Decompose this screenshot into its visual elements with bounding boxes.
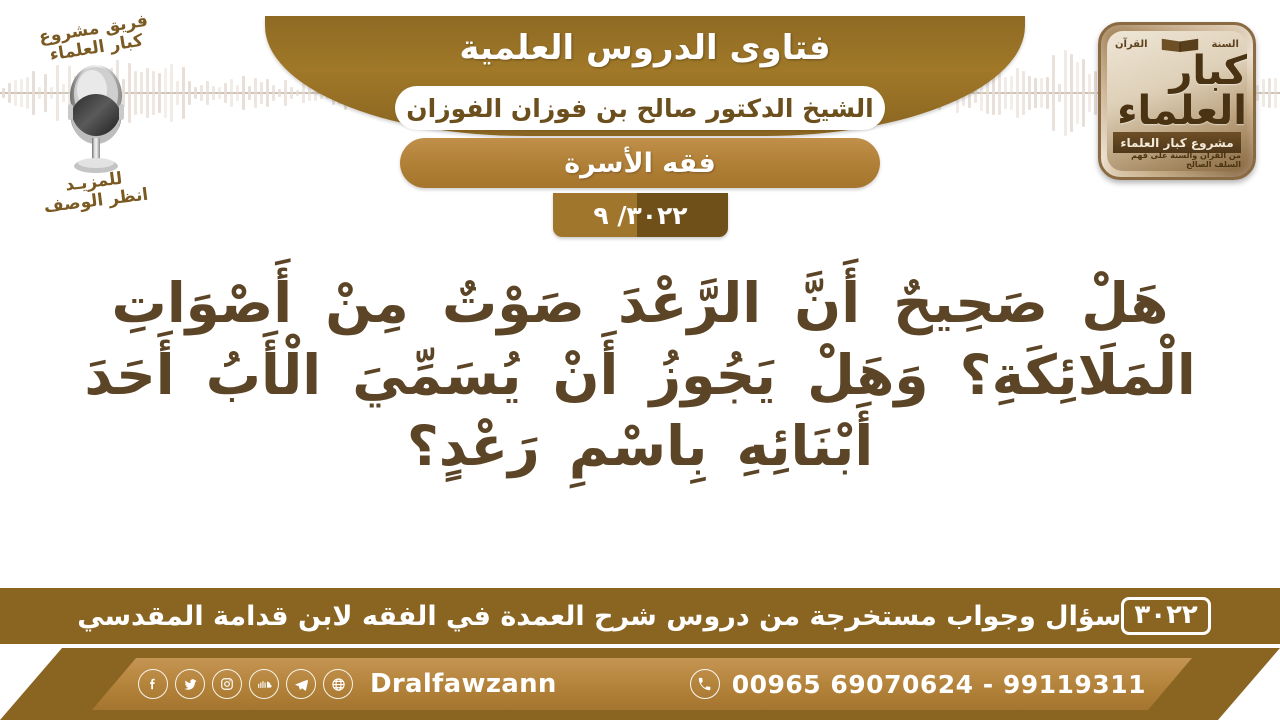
waveform-bar <box>1004 77 1007 110</box>
waveform-bar <box>1034 78 1037 109</box>
slide-canvas: فتاوى الدروس العلمية الشيخ الدكتور صالح … <box>0 0 1280 720</box>
waveform-bar <box>206 81 209 104</box>
waveform-bar <box>1256 85 1259 101</box>
question-line-3: أَبْنَائِهِ بِاسْمِ رَعْدٍ؟ <box>407 411 873 483</box>
microphone-icon <box>52 60 140 178</box>
waveform-bar <box>200 85 203 101</box>
waveform-bar <box>1268 78 1271 108</box>
topic-pill: فقه الأسرة <box>400 138 880 188</box>
waveform-bar <box>1022 71 1025 115</box>
telegram-icon[interactable] <box>286 669 316 699</box>
team-microphone-logo: فريق مشروع كبار العلماء <box>10 18 180 233</box>
waveform-bar <box>278 89 281 97</box>
contact-phone-group[interactable]: 00965 69070624 - 99119311 <box>690 669 1146 699</box>
page-title: فتاوى الدروس العلمية <box>265 20 1025 76</box>
waveform-bar <box>242 76 245 110</box>
twitter-icon[interactable] <box>175 669 205 699</box>
index-badge: ٣٠٢٢/ ٩ <box>553 193 728 237</box>
waveform-bar <box>224 83 227 103</box>
project-logo-quran-label: القرآن <box>1115 39 1148 50</box>
waveform-bar <box>1274 78 1277 108</box>
waveform-bar <box>272 85 275 101</box>
source-bar: ٣٠٢٢ سؤال وجواب مستخرجة من دروس شرح العم… <box>0 588 1280 644</box>
waveform-bar <box>1088 74 1091 112</box>
scholar-name-pill: الشيخ الدكتور صالح بن فوزان الفوزان <box>395 86 885 130</box>
waveform-bar <box>1082 59 1085 128</box>
soundcloud-icon[interactable] <box>249 669 279 699</box>
website-globe-icon[interactable] <box>323 669 353 699</box>
project-logo-main-text: كبار العلماء <box>1107 51 1247 131</box>
instagram-icon[interactable] <box>212 669 242 699</box>
waveform-bar <box>236 85 239 102</box>
question-line-2: الْمَلَائِكَةِ؟ وَهَلْ يَجُوزُ أَنْ يُسَ… <box>84 340 1195 412</box>
waveform-bar <box>188 81 191 105</box>
waveform-bar <box>1040 78 1043 109</box>
waveform-bar <box>182 67 185 118</box>
question-block: هَلْ صَحِيحٌ أَنَّ الرَّعْدَ صَوْتٌ مِنْ… <box>20 268 1260 558</box>
waveform-bar <box>194 87 197 98</box>
phone-icon <box>690 669 720 699</box>
team-logo-bottom-text: للمزيـد انظر الوصف <box>8 163 181 221</box>
waveform-bar <box>1064 50 1067 135</box>
project-logo-inner: السنة القرآن كبار العلماء مشروع كبار الع… <box>1107 31 1247 171</box>
waveform-bar <box>248 86 251 99</box>
waveform-bar <box>1052 55 1055 130</box>
phone-number: 00965 69070624 - 99119311 <box>732 670 1146 699</box>
waveform-bar <box>1010 76 1013 109</box>
waveform-bar <box>218 87 221 100</box>
waveform-bar <box>1070 54 1073 132</box>
waveform-bar <box>1094 71 1097 115</box>
waveform-bar <box>1058 84 1061 102</box>
social-links-group[interactable]: Dralfawzann <box>138 669 557 699</box>
waveform-bar <box>230 79 233 108</box>
waveform-bar <box>1076 62 1079 125</box>
waveform-bar <box>2 88 5 98</box>
waveform-bar <box>998 71 1001 115</box>
waveform-bar <box>260 82 263 104</box>
waveform-bar <box>212 86 215 101</box>
waveform-bar <box>254 78 257 109</box>
waveform-bar <box>266 79 269 106</box>
project-logo-band-text: مشروع كبار العلماء <box>1113 132 1241 153</box>
social-handle: Dralfawzann <box>370 669 557 699</box>
waveform-bar <box>290 87 293 99</box>
footer-inner-band: 00965 69070624 - 99119311 <box>92 658 1192 710</box>
waveform-bar <box>1262 79 1265 108</box>
question-line-1: هَلْ صَحِيحٌ أَنَّ الرَّعْدَ صَوْتٌ مِنْ… <box>112 268 1169 340</box>
waveform-bar <box>1046 77 1049 109</box>
waveform-bar <box>296 90 299 96</box>
waveform-bar <box>284 80 287 106</box>
waveform-bar <box>302 83 305 103</box>
project-logo: السنة القرآن كبار العلماء مشروع كبار الع… <box>1098 22 1256 180</box>
facebook-icon[interactable] <box>138 669 168 699</box>
project-logo-sub-text: من القرآن والسنة على فهم السلف الصالح <box>1113 153 1241 167</box>
waveform-bar <box>1028 76 1031 109</box>
source-number-badge: ٣٠٢٢ <box>1121 597 1210 636</box>
source-description: سؤال وجواب مستخرجة من دروس شرح العمدة في… <box>77 601 1121 632</box>
